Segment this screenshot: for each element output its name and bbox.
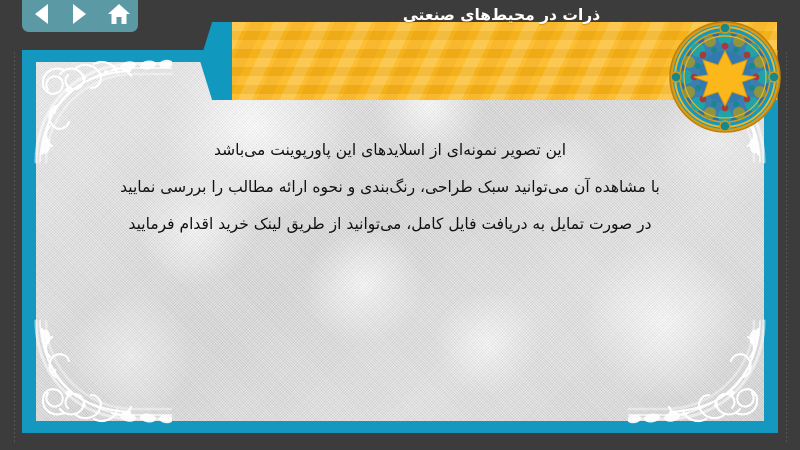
prev-slide-button[interactable]: [27, 2, 55, 26]
page-title: ارزیابی مخاطرات تنفسی ناشی از فعالیت‌های…: [299, 0, 704, 28]
seam-right: [786, 52, 787, 442]
body-line-2: با مشاهده آن می‌توانید سبک طراحی، رنگ‌بن…: [60, 169, 720, 206]
home-button[interactable]: [105, 2, 133, 26]
arrow-right-icon: [73, 4, 86, 24]
medallion-ornament-icon: [668, 20, 782, 134]
body-line-3: در صورت تمایل به دریافت فایل کامل، می‌تو…: [60, 206, 720, 243]
home-icon: [107, 3, 131, 25]
next-slide-button[interactable]: [66, 2, 94, 26]
slide-body: این تصویر نمونه‌ای از اسلایدهای این پاور…: [60, 132, 720, 243]
arrow-left-icon: [35, 4, 48, 24]
body-line-1: این تصویر نمونه‌ای از اسلایدهای این پاور…: [60, 132, 720, 169]
navigation-bar: [22, 0, 138, 32]
slide-viewer: این تصویر نمونه‌ای از اسلایدهای این پاور…: [0, 0, 800, 450]
seam-left: [14, 52, 15, 442]
